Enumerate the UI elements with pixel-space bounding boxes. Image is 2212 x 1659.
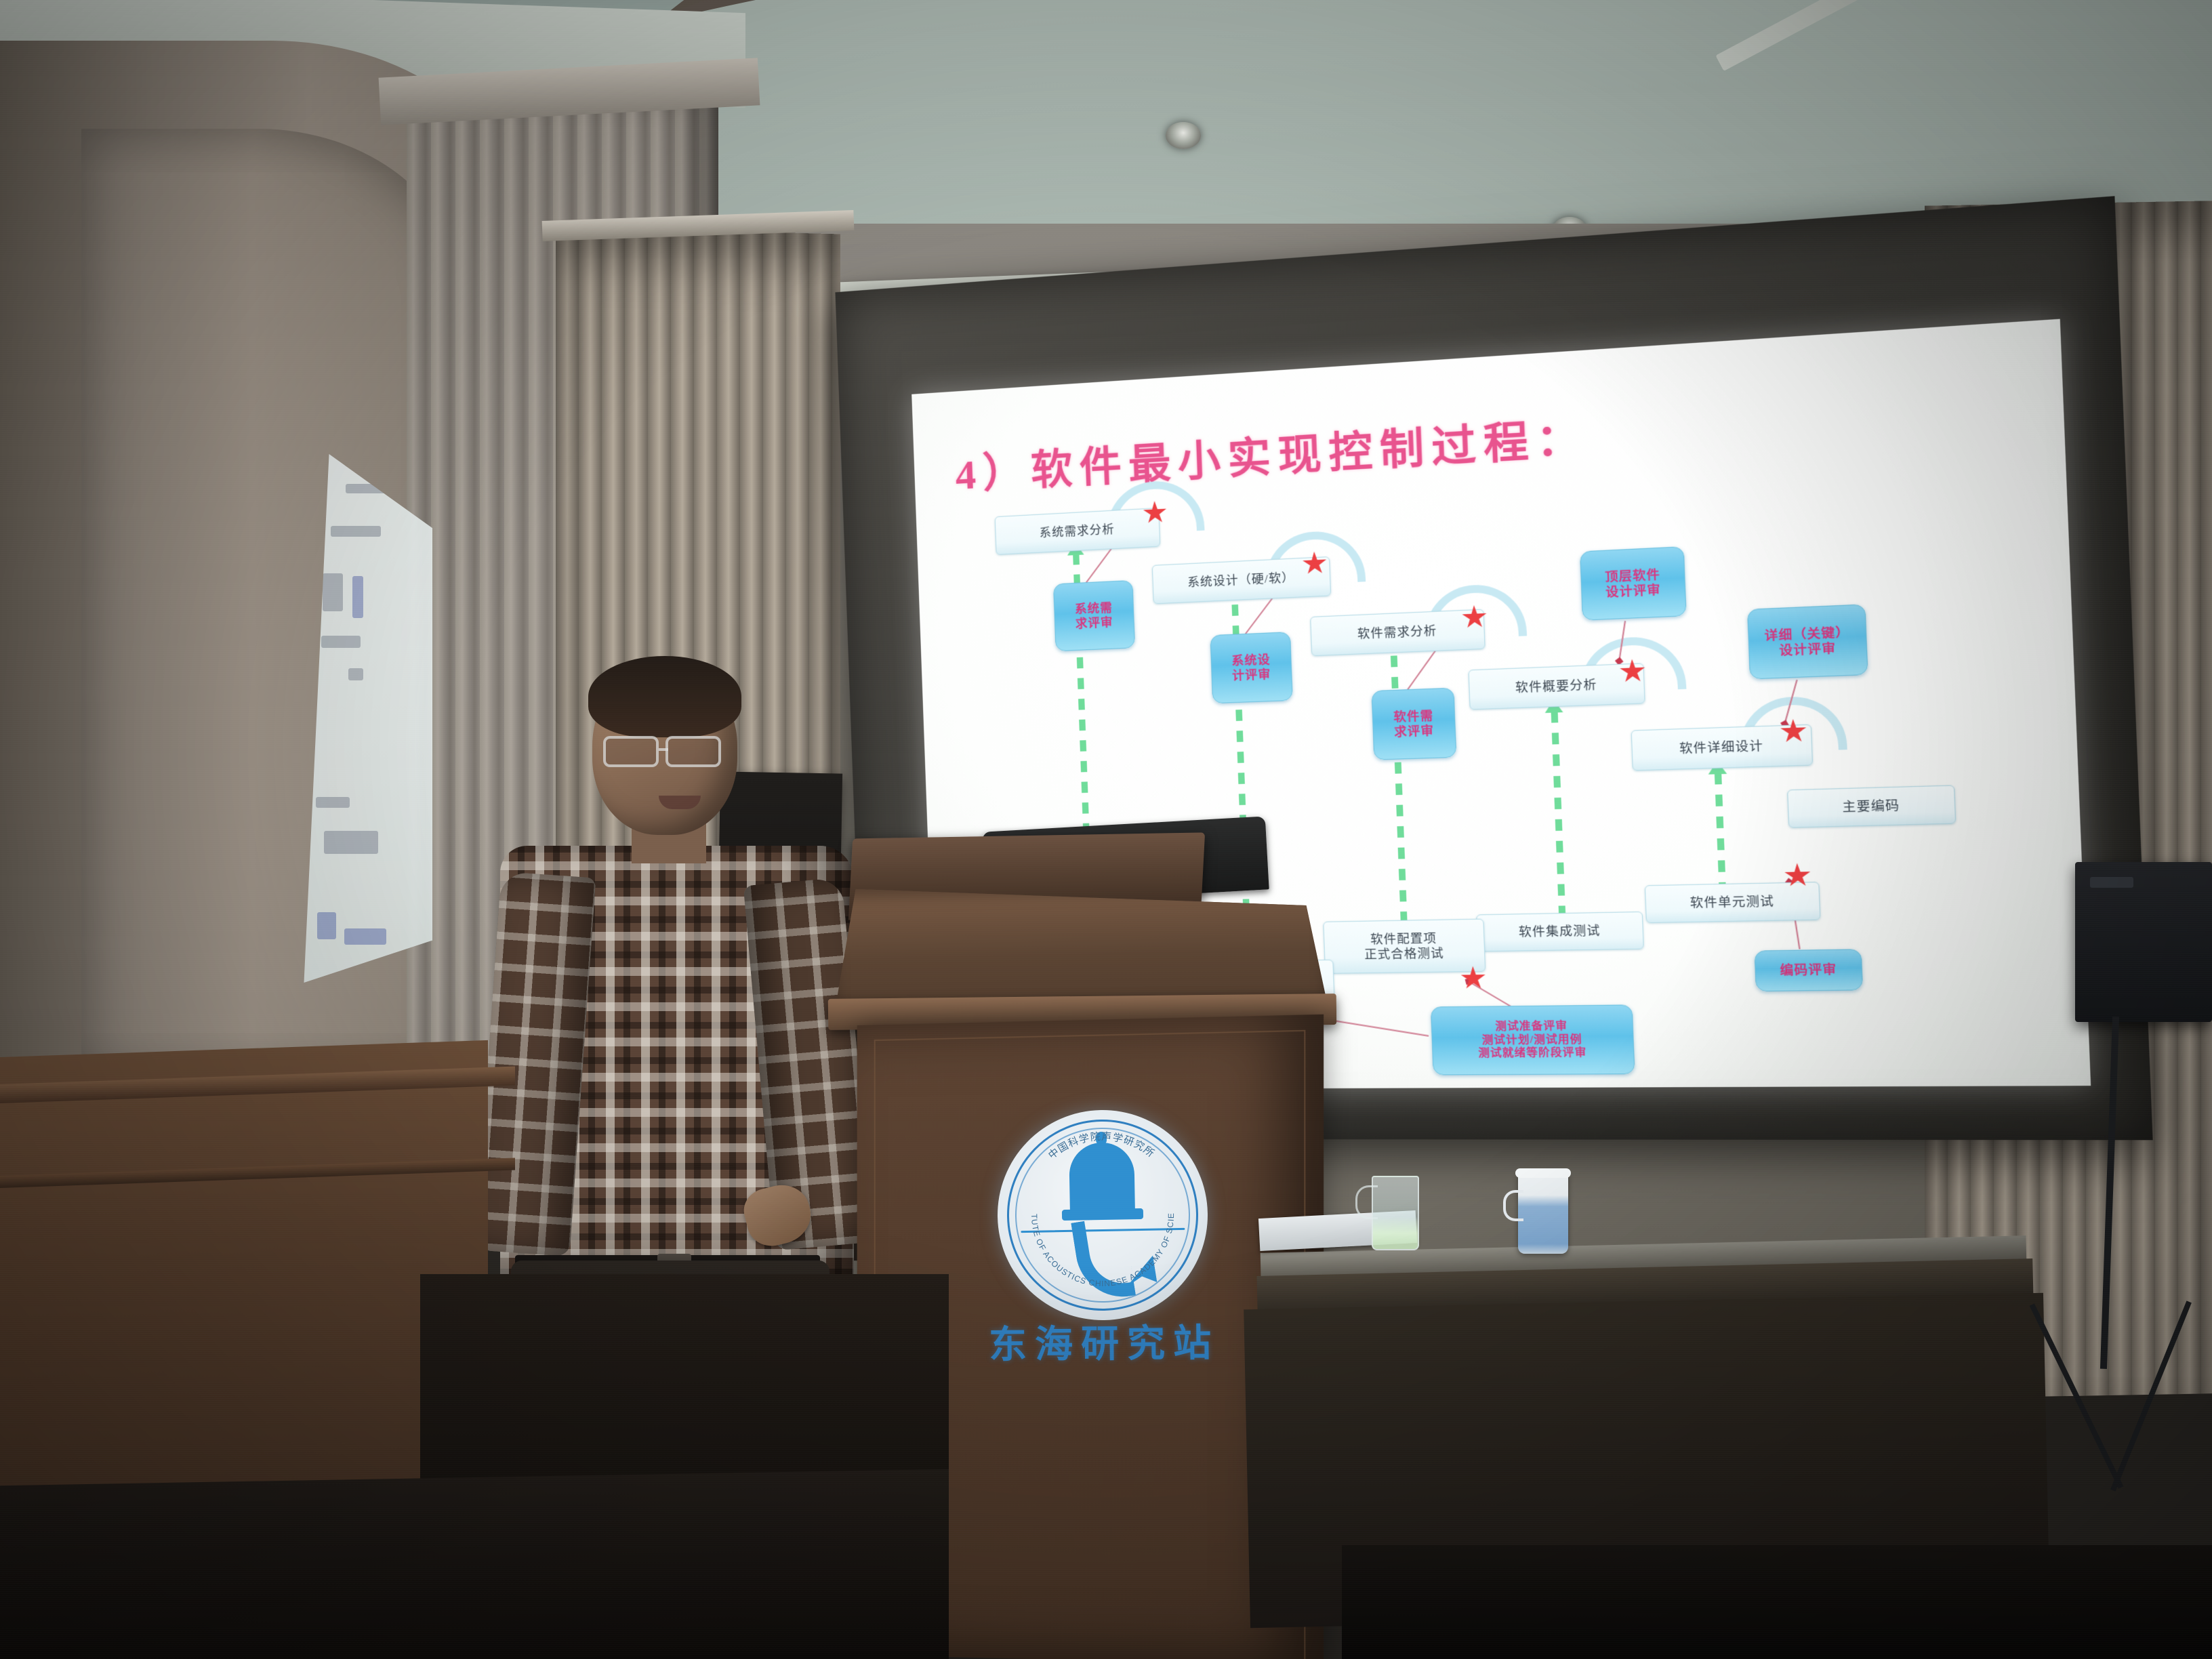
review-node: 软件需 求评审 — [1371, 688, 1456, 760]
flow-arrow-up — [1551, 711, 1566, 917]
review-node: 编码评审 — [1754, 949, 1863, 991]
glass-mug[interactable] — [1372, 1176, 1419, 1250]
slide-diagram: 系统需求分析系统设计（硬/软）软件需求分析软件概要分析软件详细设计主要编码软件单… — [912, 319, 2060, 394]
conference-room-photo: 4）软件最小实现控制过程： 系统需求分析系统设计（硬/软）软件需求分析软件概要分… — [0, 0, 2212, 1659]
flow-arrow-up — [1715, 773, 1726, 886]
stage-node: 软件单元测试 — [1645, 882, 1821, 923]
paper-cup[interactable] — [1518, 1172, 1568, 1254]
stage-node: 主要编码 — [1787, 785, 1956, 827]
review-node: 详细（关键） 设计评审 — [1747, 604, 1868, 679]
review-node: 测试准备评审 测试计划/测试用例 测试就绪等阶段评审 — [1431, 1004, 1635, 1075]
stage-node: 系统设计（硬/软） — [1152, 556, 1331, 604]
glasses-icon — [665, 736, 721, 767]
stage-node: 软件配置项 正式合格测试 — [1323, 919, 1486, 974]
emblem-ring-text: 中国科学院声学研究所 INSTITUTE OF ACOUSTICS CHINES… — [996, 1108, 1209, 1322]
foreground-shadow — [1342, 1545, 2212, 1659]
stage-node: 系统需求分析 — [995, 508, 1161, 555]
presenter-hair — [588, 656, 741, 737]
review-node: 系统需 求评审 — [1053, 580, 1135, 651]
stage-node: 软件集成测试 — [1476, 912, 1644, 951]
review-connector — [1468, 981, 1511, 1007]
glasses-icon — [603, 736, 659, 767]
review-node: 系统设 计评审 — [1210, 632, 1292, 703]
stage-node: 软件需求分析 — [1310, 609, 1486, 657]
slide-title: 4）软件最小实现控制过程： — [954, 403, 1590, 501]
emblem-ring-text-cn: 中国科学院声学研究所 — [1046, 1129, 1157, 1162]
downlight-icon — [1166, 122, 1201, 149]
institute-emblem: 中国科学院声学研究所 INSTITUTE OF ACOUSTICS CHINES… — [996, 1108, 1209, 1322]
stage-node: 软件概要分析 — [1468, 663, 1645, 710]
podium-label: 东海研究站 — [978, 1312, 1231, 1369]
loudspeaker — [2075, 862, 2212, 1022]
review-node: 顶层软件 设计评审 — [1580, 546, 1687, 621]
floor — [0, 1469, 949, 1659]
glasses-bridge — [659, 748, 668, 751]
